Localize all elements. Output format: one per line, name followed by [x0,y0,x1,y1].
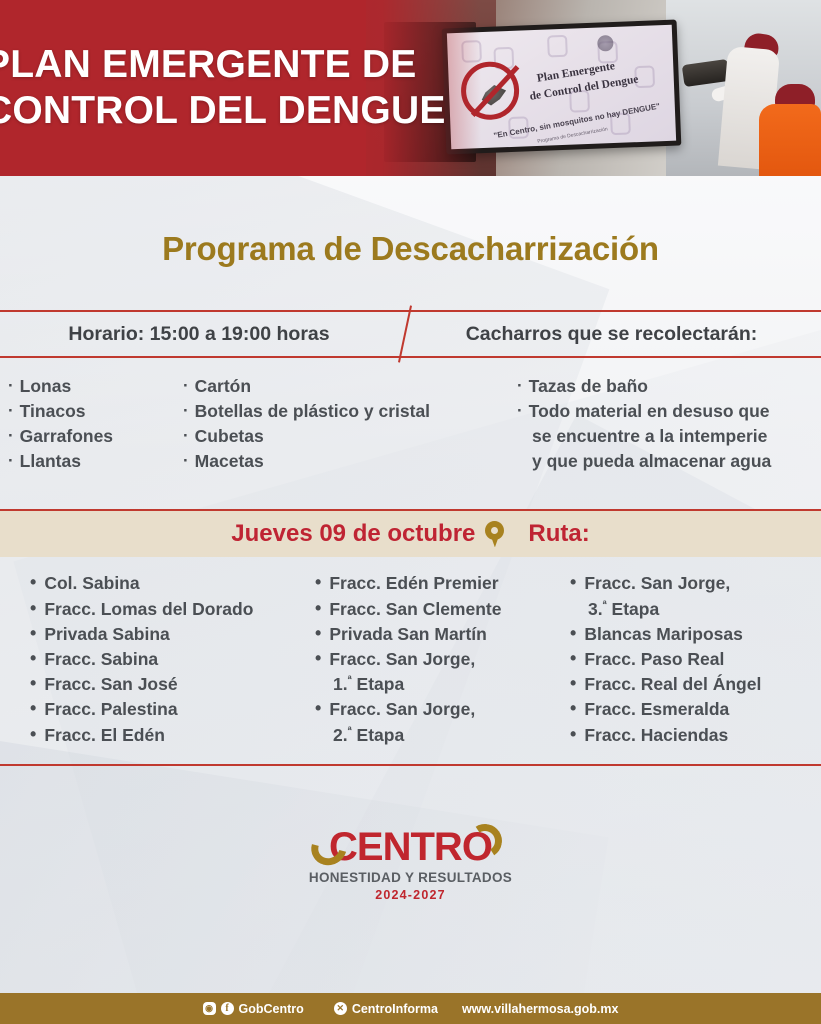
list-item-continuation: 1.ª Etapa [315,672,548,697]
bullet-dot: • [315,622,321,645]
map-pin-icon [485,521,504,547]
list-item: · Llantas [8,449,175,474]
bullet-dot: • [30,647,36,670]
x-handle[interactable]: CentroInforma [352,1002,438,1016]
page-title: PLAN EMERGENTE DE CONTROL DEL DENGUE [0,42,446,134]
bullet-dot: · [8,449,14,473]
list-item-label: Garrafones [20,424,113,449]
instagram-icon[interactable]: ◉ [203,1002,216,1015]
x-twitter-icon[interactable]: ✕ [334,1002,347,1015]
list-item-label: Fracc. El Edén [44,723,165,748]
list-item-label: Macetas [195,449,264,474]
bullet-dot: · [183,399,189,423]
stage-number: 1. [333,674,348,694]
list-item-label: Fracc. San Jorge, [329,697,475,722]
list-item-label: Privada San Martín [329,622,487,647]
schedule-strip: Horario: 15:00 a 19:00 horas Cacharros q… [0,310,821,358]
footer-bar: ◉ f GobCentro ✕ CentroInforma www.villah… [0,993,821,1024]
bullet-dot: • [570,647,576,670]
strip-diagonal-divider [398,305,412,362]
route-column-1: • Col. Sabina • Fracc. Lomas del Dorado … [0,571,285,747]
bullet-dot: · [517,399,523,423]
list-item-label: Fracc. Haciendas [584,723,728,748]
list-item: · Botellas de plástico y cristal [183,399,505,424]
list-item-continuation: 3.ª Etapa [570,597,821,622]
header-banner: Plan Emergente de Control del Dengue "En… [0,0,821,176]
hex-pattern [547,35,568,58]
bullet-dot: • [315,571,321,594]
stage-label: Etapa [352,674,405,694]
list-item: • Fracc. El Edén [30,723,285,748]
list-item: • Fracc. Esmeralda [570,697,821,722]
list-item: • Col. Sabina [30,571,285,596]
collect-column-2: · Cartón · Botellas de plástico y crista… [175,374,505,473]
list-item: • Fracc. Palestina [30,697,285,722]
date-banner: Jueves 09 de octubre Ruta: [0,509,821,557]
list-item-label: Fracc. Palestina [44,697,177,722]
bullet-dot: • [30,622,36,645]
list-item: • Privada Sabina [30,622,285,647]
list-item-label: Fracc. Paso Real [584,647,724,672]
list-item: • Blancas Mariposas [570,622,821,647]
route-label: Ruta: [528,520,589,548]
list-item-label: Fracc. San José [44,672,177,697]
list-item-label: Llantas [20,449,81,474]
list-item-label: Fracc. Sabina [44,647,158,672]
bullet-dot: • [570,622,576,645]
logo-area: CENTRO HONESTIDAD Y RESULTADOS 2024-2027 [0,766,821,886]
flyer-page: Plan Emergente de Control del Dengue "En… [0,0,821,1024]
logo-years: 2024-2027 [375,888,446,902]
list-item: • Fracc. San Clemente [315,597,548,622]
list-item: • Fracc. Paso Real [570,647,821,672]
social-handle-group[interactable]: ◉ f GobCentro [203,1002,304,1016]
list-item-label: Col. Sabina [44,571,139,596]
route-column-3: • Fracc. San Jorge, 3.ª Etapa • Blancas … [548,571,821,747]
x-handle-group[interactable]: ✕ CentroInforma [334,1002,438,1016]
list-item: · Lonas [8,374,175,399]
list-item-label: Cubetas [195,424,264,449]
stage-label: Etapa [352,725,405,745]
bullet-dot: • [30,697,36,720]
list-item: • Fracc. Edén Premier [315,571,548,596]
list-item: · Garrafones [8,424,175,449]
website-url[interactable]: www.villahermosa.gob.mx [462,1002,619,1016]
stage-number: 2. [333,725,348,745]
list-item: • Fracc. Sabina [30,647,285,672]
bullet-dot: • [30,571,36,594]
list-item-continuation: se encuentre a la intemperie [517,424,805,449]
bullet-dot: • [570,723,576,746]
list-item-label: Fracc. San Clemente [329,597,501,622]
list-item: • Fracc. Real del Ángel [570,672,821,697]
list-item: • Fracc. Lomas del Dorado [30,597,285,622]
list-item: • Fracc. San José [30,672,285,697]
list-item-label: Blancas Mariposas [584,622,743,647]
bullet-dot: • [570,571,576,594]
page-title-line-1: PLAN EMERGENTE DE [0,42,446,88]
collect-heading: Cacharros que se recolectarán: [412,323,821,346]
list-item: · Macetas [183,449,505,474]
stage-number: 3. [588,599,603,619]
bullet-dot: · [8,399,14,423]
list-item-label: Fracc. Esmeralda [584,697,729,722]
logo-wordmark: CENTRO [329,825,492,869]
bullet-dot: • [315,597,321,620]
list-item-label: Tinacos [20,399,86,424]
page-title-line-2: CONTROL DEL DENGUE [0,88,446,134]
list-item-continuation: 2.ª Etapa [315,723,548,748]
list-item: • Privada San Martín [315,622,548,647]
list-item: • Fracc. San Jorge, [315,697,548,722]
list-item-label: Cartón [195,374,251,399]
list-item-continuation: y que pueda almacenar agua [517,449,805,474]
bullet-dot: · [8,374,14,398]
list-item: • Fracc. San Jorge, [315,647,548,672]
collect-column-3: · Tazas de baño · Todo material en desus… [505,374,805,473]
photo-worker-2 [759,104,821,176]
bullet-dot: • [30,723,36,746]
list-item-label: Todo material en desuso que [529,399,770,424]
date-text: Jueves 09 de octubre [231,520,475,548]
bullet-dot: · [517,374,523,398]
bullet-dot: • [30,672,36,695]
list-item-label: Privada Sabina [44,622,169,647]
bullet-dot: · [183,449,189,473]
photo-screen: Plan Emergente de Control del Dengue "En… [447,25,676,150]
bullet-dot: • [315,697,321,720]
list-item-label: Fracc. San Jorge, [584,571,730,596]
bullet-dot: · [183,424,189,448]
schedule-text: Horario: 15:00 a 19:00 horas [0,323,398,346]
list-item: • Fracc. Haciendas [570,723,821,748]
list-item-label: Lonas [20,374,72,399]
bullet-dot: · [183,374,189,398]
list-item-label: Botellas de plástico y cristal [195,399,430,424]
facebook-icon[interactable]: f [221,1002,234,1015]
list-item: · Cartón [183,374,505,399]
list-item-label: Fracc. Real del Ángel [584,672,761,697]
bullet-dot: • [570,697,576,720]
list-item: · Cubetas [183,424,505,449]
list-item: · Tazas de baño [517,374,805,399]
logo-tagline: HONESTIDAD Y RESULTADOS [309,870,512,885]
list-item-label: Fracc. Edén Premier [329,571,498,596]
list-item-label: Fracc. Lomas del Dorado [44,597,253,622]
route-section: • Col. Sabina • Fracc. Lomas del Dorado … [0,557,821,765]
route-column-2: • Fracc. Edén Premier • Fracc. San Cleme… [285,571,548,747]
bullet-dot: · [8,424,14,448]
list-item-label: Fracc. San Jorge, [329,647,475,672]
centro-logo: CENTRO [329,827,492,867]
program-title: Programa de Descacharrización [0,176,821,268]
bullet-dot: • [315,647,321,670]
bullet-dot: • [570,672,576,695]
list-item: • Fracc. San Jorge, [570,571,821,596]
social-handle[interactable]: GobCentro [239,1002,304,1016]
stage-label: Etapa [607,599,660,619]
mosquito-glyph [480,82,507,107]
list-item: · Tinacos [8,399,175,424]
pin-tip [490,533,500,547]
list-item-label: Tazas de baño [529,374,648,399]
bullet-dot: • [30,597,36,620]
list-item: · Todo material en desuso que [517,399,805,424]
collect-column-1: · Lonas · Tinacos · Garrafones · Llantas [0,374,175,473]
collect-items-section: · Lonas · Tinacos · Garrafones · Llantas… [0,358,821,473]
